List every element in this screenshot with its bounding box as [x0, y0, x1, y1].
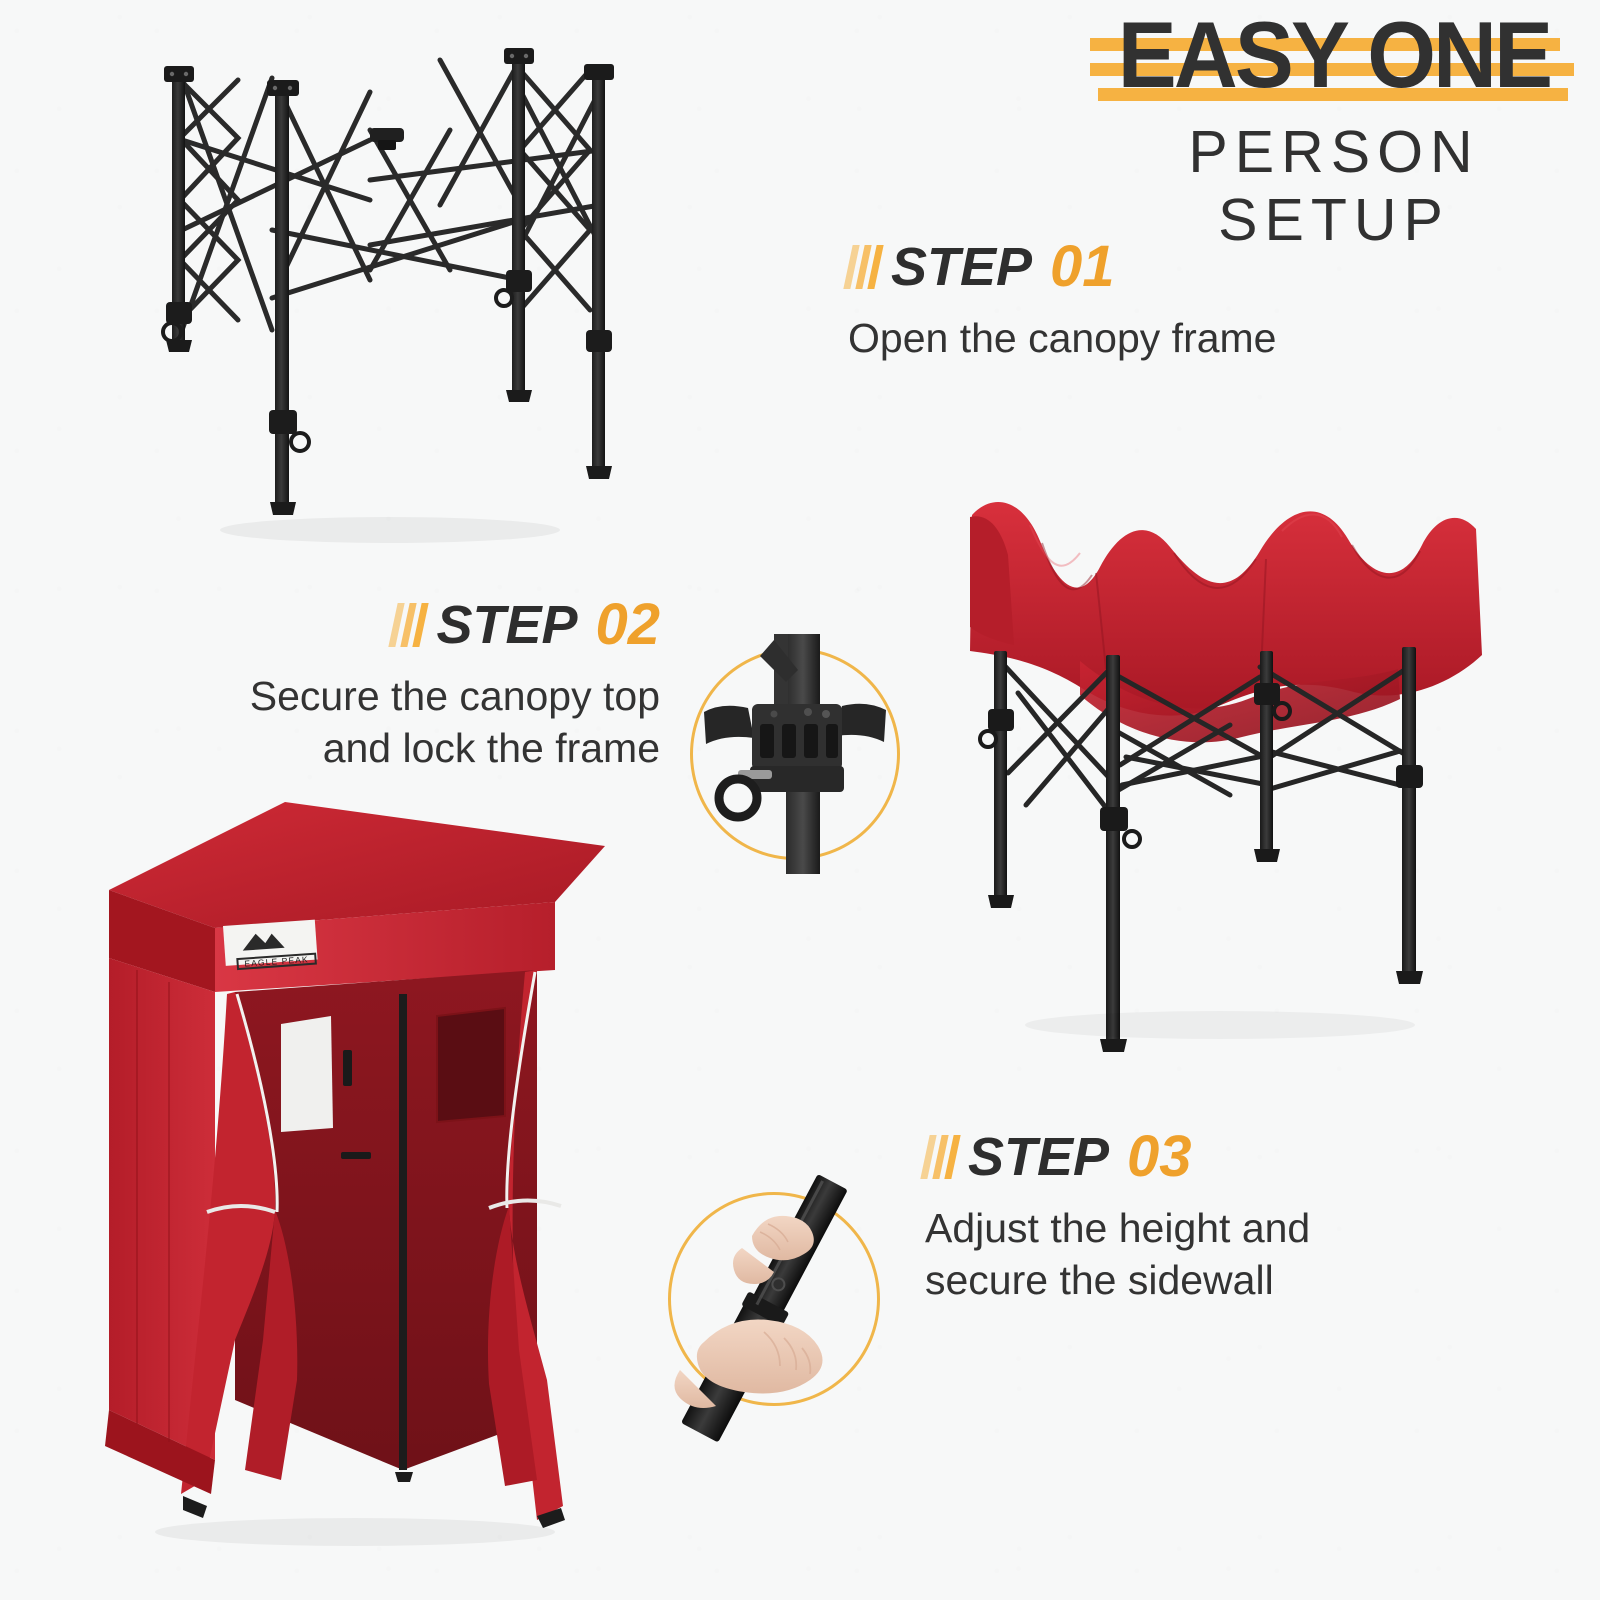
step-1-word: STEP — [891, 240, 1032, 294]
step-block-3: STEP 03 Adjust the height and secure the… — [925, 1128, 1395, 1307]
page-title: EASY ONE PERSON SETUP — [1080, 8, 1588, 254]
step-3-word: STEP — [968, 1130, 1109, 1184]
step-2-number: 02 — [595, 596, 660, 654]
step-2-heading: STEP 02 — [190, 596, 660, 654]
brand-logo-patch: EAGLE PEAK — [223, 920, 318, 969]
height-adjust-inset — [668, 1192, 880, 1406]
step-2-description-line-1: Secure the canopy top — [190, 670, 660, 722]
step-block-2: STEP 02 Secure the canopy top and lock t… — [190, 596, 660, 775]
step-bars-icon — [920, 1135, 960, 1179]
step-2-word: STEP — [436, 598, 577, 652]
step-bars-icon — [389, 603, 429, 647]
frame-lock-hub-inset — [690, 648, 900, 860]
step-2-description: Secure the canopy top and lock the frame — [190, 670, 660, 775]
title-line-1-wrap: EASY ONE — [1104, 8, 1564, 102]
step-3-number: 03 — [1127, 1128, 1192, 1186]
step-1-heading: STEP 01 — [848, 238, 1408, 296]
step-3-description-line-1: Adjust the height and — [925, 1202, 1395, 1254]
step-3-heading: STEP 03 — [925, 1128, 1395, 1186]
assembled-canopy-tent-image: EAGLE PEAK — [85, 780, 645, 1570]
red-canopy-on-frame-image — [930, 455, 1520, 1055]
step-3-description: Adjust the height and secure the sidewal… — [925, 1202, 1395, 1307]
title-line-2: PERSON SETUP — [1080, 118, 1588, 254]
title-line-1: EASY ONE — [1118, 8, 1550, 102]
folding-canopy-frame-image — [120, 30, 660, 570]
step-2-description-line-2: and lock the frame — [190, 722, 660, 774]
step-block-1: STEP 01 Open the canopy frame — [848, 238, 1408, 364]
step-bars-icon — [843, 245, 883, 289]
step-1-description: Open the canopy frame — [848, 312, 1408, 364]
step-3-description-line-2: secure the sidewall — [925, 1254, 1395, 1306]
center-peak-hub — [370, 128, 404, 150]
infographic-canvas: EASY ONE PERSON SETUP STEP 01 Open the c… — [0, 0, 1600, 1600]
step-1-number: 01 — [1050, 238, 1115, 296]
